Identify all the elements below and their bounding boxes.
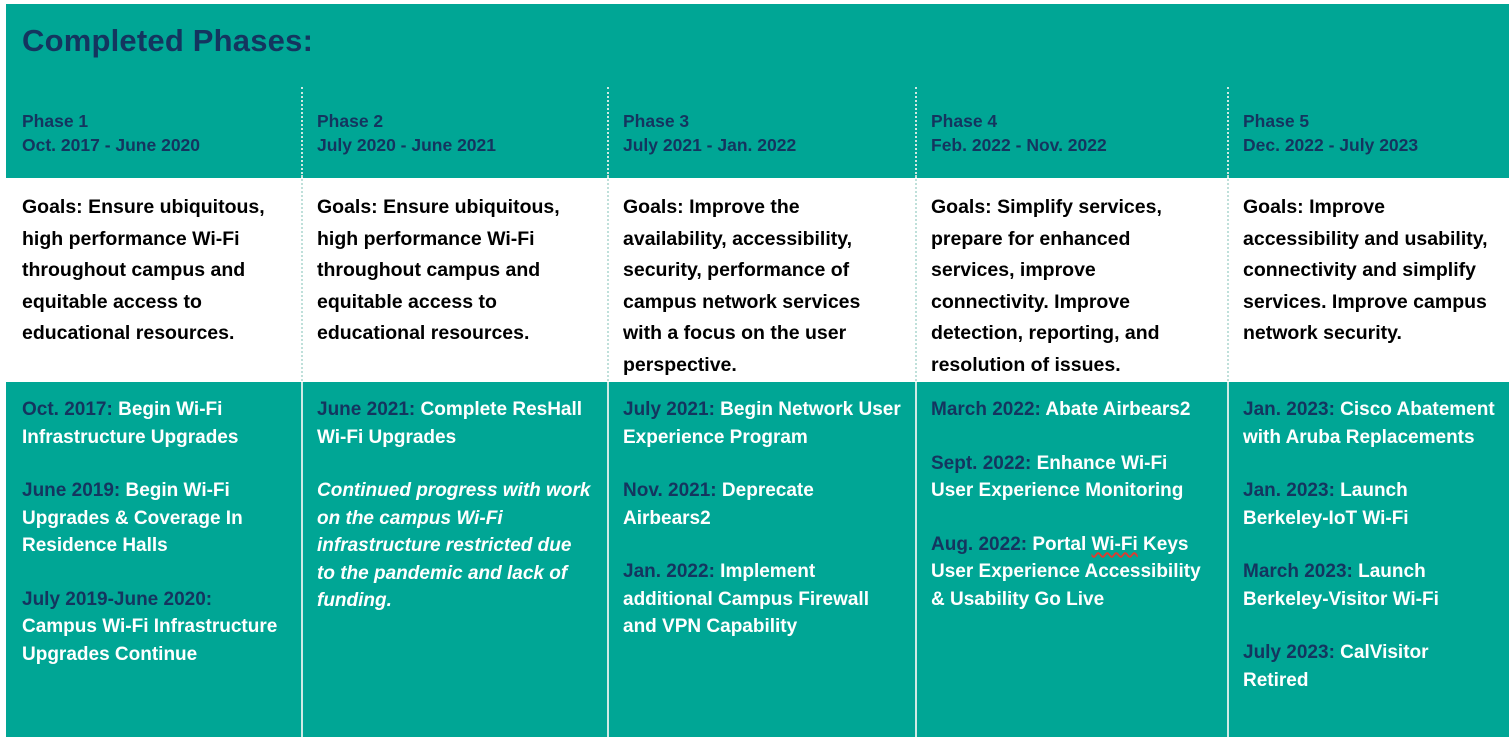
goals-cell-phase-5: Goals: Improve accessibility and usabili… [1227,178,1509,382]
phase-dates: July 2021 - Jan. 2022 [623,133,901,157]
milestone-item: July 2019-June 2020: Campus Wi-Fi Infras… [22,586,287,669]
milestone-item: Sept. 2022: Enhance Wi-Fi User Experienc… [931,450,1213,505]
phase-dates: Feb. 2022 - Nov. 2022 [931,133,1213,157]
phase-dates: Dec. 2022 - July 2023 [1243,133,1495,157]
milestone-date: July 2019-June 2020: [22,589,212,610]
milestone-date: Jan. 2022: [623,561,720,582]
milestone-item: July 2023: CalVisitor Retired [1243,639,1495,694]
milestones-cell-phase-5: Jan. 2023: Cisco Abatement with Aruba Re… [1227,382,1509,737]
milestone-item: March 2022: Abate Airbears2 [931,396,1213,424]
milestone-date: March 2023: [1243,561,1358,582]
phase-dates: Oct. 2017 - June 2020 [22,133,287,157]
milestone-item: July 2021: Begin Network User Experience… [623,396,901,451]
milestones-cell-phase-3: July 2021: Begin Network User Experience… [607,382,915,737]
phase-header-1: Phase 1 Oct. 2017 - June 2020 [6,99,301,178]
header-band: Completed Phases: Phase 1 Oct. 2017 - Ju… [6,4,1509,178]
milestone-date: Jan. 2023: [1243,399,1340,420]
milestone-date: June 2019: [22,480,126,501]
milestones-row: Oct. 2017: Begin Wi-Fi Infrastructure Up… [6,382,1509,737]
milestone-date: March 2022: [931,399,1045,420]
milestone-date: Aug. 2022: [931,534,1032,555]
phase-header-3: Phase 3 July 2021 - Jan. 2022 [607,99,915,178]
milestone-item: Aug. 2022: Portal Wi-Fi Keys User Experi… [931,531,1213,614]
goals-row: Goals: Ensure ubiquitous, high performan… [6,178,1509,382]
phase-name: Phase 3 [623,109,901,133]
milestone-date: Jan. 2023: [1243,480,1340,501]
milestone-date: Oct. 2017: [22,399,118,420]
milestone-item: Jan. 2023: Launch Berkeley-IoT Wi-Fi [1243,477,1495,532]
phase-header-5: Phase 5 Dec. 2022 - July 2023 [1227,99,1509,178]
milestones-cell-phase-1: Oct. 2017: Begin Wi-Fi Infrastructure Up… [6,382,301,737]
phase-name: Phase 5 [1243,109,1495,133]
milestone-date: Sept. 2022: [931,453,1037,474]
milestone-item: June 2021: Complete ResHall Wi-Fi Upgrad… [317,396,593,451]
milestone-date: Nov. 2021: [623,480,722,501]
phase-name: Phase 1 [22,109,287,133]
milestone-item: March 2023: Launch Berkeley-Visitor Wi-F… [1243,558,1495,613]
milestone-item: Oct. 2017: Begin Wi-Fi Infrastructure Up… [22,396,287,451]
page-title: Completed Phases: [6,4,1509,58]
milestone-text: Continued progress with work on the camp… [317,480,590,611]
milestone-date: June 2021: [317,399,421,420]
milestone-item: Jan. 2022: Implement additional Campus F… [623,558,901,641]
goals-cell-phase-3: Goals: Improve the availability, accessi… [607,178,915,382]
phase-dates: July 2020 - June 2021 [317,133,593,157]
milestone-item: Continued progress with work on the camp… [317,477,593,615]
goals-cell-phase-1: Goals: Ensure ubiquitous, high performan… [6,178,301,382]
phase-name: Phase 4 [931,109,1213,133]
milestone-item: June 2019: Begin Wi-Fi Upgrades & Covera… [22,477,287,560]
milestone-item: Nov. 2021: Deprecate Airbears2 [623,477,901,532]
milestone-item: Jan. 2023: Cisco Abatement with Aruba Re… [1243,396,1495,451]
milestones-cell-phase-4: March 2022: Abate Airbears2Sept. 2022: E… [915,382,1227,737]
milestone-date: July 2021: [623,399,720,420]
milestone-text: Campus Wi-Fi Infrastructure Upgrades Con… [22,616,277,665]
milestones-cell-phase-2: June 2021: Complete ResHall Wi-Fi Upgrad… [301,382,607,737]
phase-header-row: Phase 1 Oct. 2017 - June 2020 Phase 2 Ju… [6,99,1509,178]
milestone-text: Abate Airbears2 [1045,399,1190,420]
phase-header-2: Phase 2 July 2020 - June 2021 [301,99,607,178]
spellcheck-underline: Wi-Fi [1092,534,1138,555]
completed-phases-table: Completed Phases: Phase 1 Oct. 2017 - Ju… [0,0,1509,741]
goals-cell-phase-4: Goals: Simplify services, prepare for en… [915,178,1227,382]
goals-cell-phase-2: Goals: Ensure ubiquitous, high performan… [301,178,607,382]
phase-header-4: Phase 4 Feb. 2022 - Nov. 2022 [915,99,1227,178]
phase-name: Phase 2 [317,109,593,133]
milestone-date: July 2023: [1243,642,1340,663]
